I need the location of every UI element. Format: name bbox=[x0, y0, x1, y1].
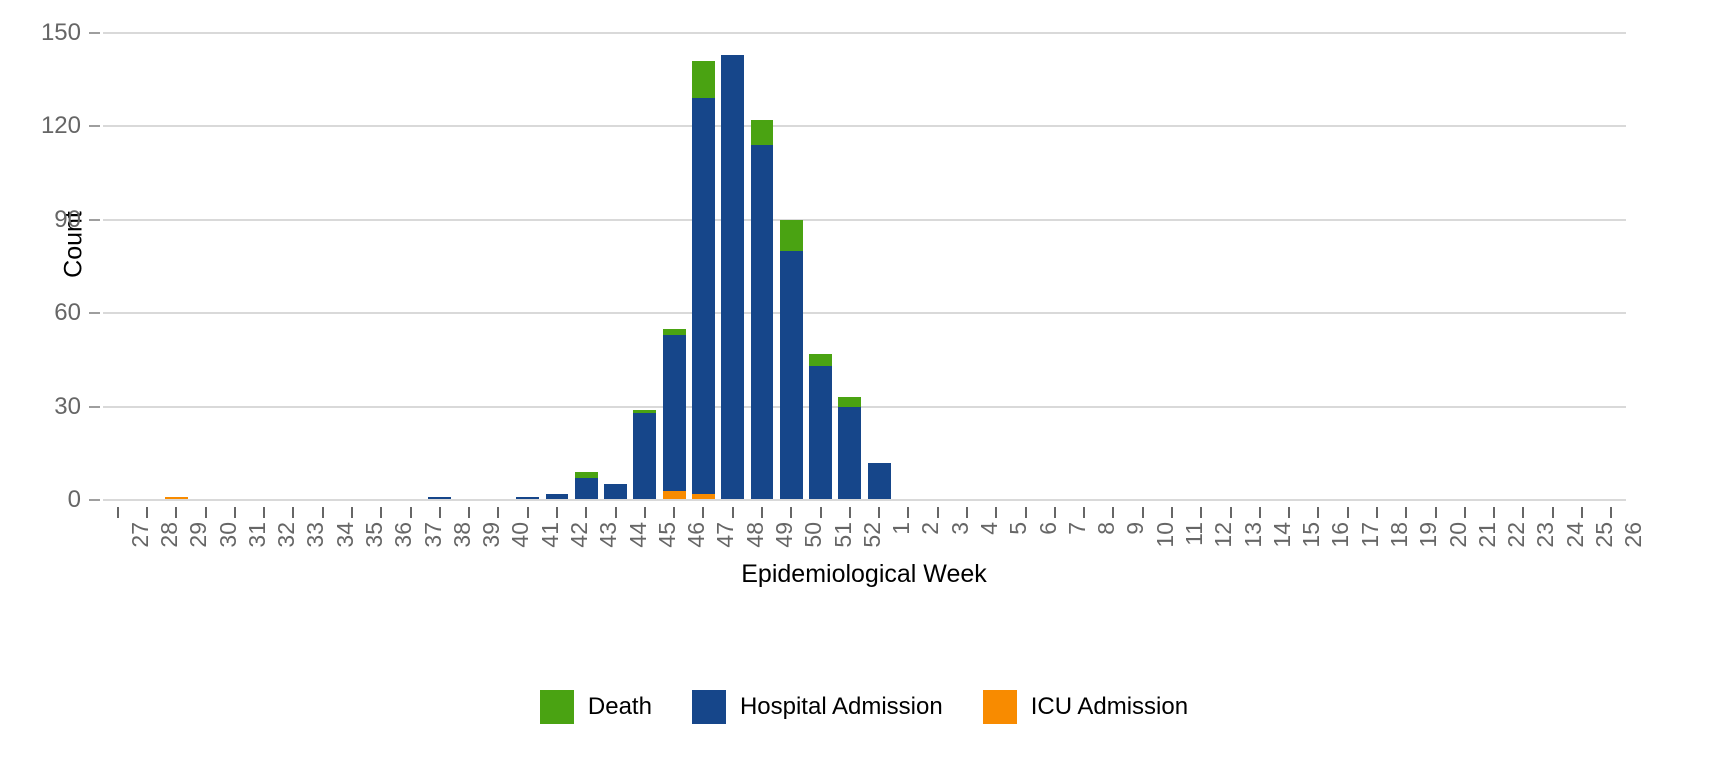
x-tick-mark bbox=[585, 507, 587, 518]
bar-stack[interactable] bbox=[838, 397, 861, 500]
x-tick-label: 42 bbox=[566, 522, 593, 548]
x-tick-mark bbox=[1376, 507, 1378, 518]
bar-segment-death[interactable] bbox=[780, 220, 803, 251]
x-tick-mark bbox=[439, 507, 441, 518]
x-tick-label: 44 bbox=[625, 522, 652, 548]
x-tick-mark bbox=[995, 507, 997, 518]
x-tick-label: 48 bbox=[742, 522, 769, 548]
x-tick-mark bbox=[1581, 507, 1583, 518]
y-tick-label: 90 bbox=[11, 208, 81, 232]
x-tick-label: 18 bbox=[1386, 522, 1413, 548]
x-tick-label: 46 bbox=[683, 522, 710, 548]
x-tick-mark bbox=[1054, 507, 1056, 518]
y-tick-mark bbox=[89, 499, 100, 501]
x-tick-mark bbox=[1317, 507, 1319, 518]
bar-segment-hospital-admission[interactable] bbox=[838, 407, 861, 500]
x-tick-mark bbox=[292, 507, 294, 518]
x-tick-label: 2 bbox=[917, 522, 944, 535]
x-tick-mark bbox=[527, 507, 529, 518]
x-tick-label: 15 bbox=[1298, 522, 1325, 548]
bar-stack[interactable] bbox=[751, 120, 774, 500]
bar-segment-hospital-admission[interactable] bbox=[809, 366, 832, 500]
x-tick-label: 4 bbox=[976, 522, 1003, 535]
y-tick-mark bbox=[89, 125, 100, 127]
x-tick-label: 34 bbox=[332, 522, 359, 548]
bar-segment-death[interactable] bbox=[692, 61, 715, 98]
x-tick-label: 47 bbox=[712, 522, 739, 548]
x-tick-label: 1 bbox=[888, 522, 915, 535]
x-tick-label: 14 bbox=[1269, 522, 1296, 548]
x-tick-label: 9 bbox=[1122, 522, 1149, 535]
x-tick-mark bbox=[146, 507, 148, 518]
x-tick-mark bbox=[380, 507, 382, 518]
x-axis-baseline bbox=[103, 499, 1626, 501]
bar-segment-hospital-admission[interactable] bbox=[692, 98, 715, 493]
bar-stack[interactable] bbox=[692, 61, 715, 500]
x-tick-label: 6 bbox=[1035, 522, 1062, 535]
x-tick-mark bbox=[322, 507, 324, 518]
x-tick-label: 29 bbox=[185, 522, 212, 548]
legend-item[interactable]: Hospital Admission bbox=[692, 690, 943, 724]
x-tick-mark bbox=[1259, 507, 1261, 518]
x-tick-mark bbox=[497, 507, 499, 518]
legend-label: Hospital Admission bbox=[740, 693, 943, 721]
x-tick-label: 5 bbox=[1005, 522, 1032, 535]
y-tick-label: 60 bbox=[11, 301, 81, 325]
bar-segment-hospital-admission[interactable] bbox=[663, 335, 686, 491]
x-tick-label: 30 bbox=[215, 522, 242, 548]
x-tick-label: 20 bbox=[1445, 522, 1472, 548]
legend-item[interactable]: ICU Admission bbox=[983, 690, 1188, 724]
x-tick-mark bbox=[234, 507, 236, 518]
x-tick-mark bbox=[1522, 507, 1524, 518]
x-tick-label: 39 bbox=[478, 522, 505, 548]
legend-swatch bbox=[983, 690, 1017, 724]
x-tick-mark bbox=[117, 507, 119, 518]
x-tick-mark bbox=[175, 507, 177, 518]
bar-stack[interactable] bbox=[604, 484, 627, 500]
legend-swatch bbox=[692, 690, 726, 724]
x-tick-label: 36 bbox=[390, 522, 417, 548]
bar-segment-death[interactable] bbox=[751, 120, 774, 145]
x-tick-label: 3 bbox=[947, 522, 974, 535]
x-tick-mark bbox=[1112, 507, 1114, 518]
x-tick-label: 52 bbox=[859, 522, 886, 548]
x-tick-label: 23 bbox=[1532, 522, 1559, 548]
bar-stack[interactable] bbox=[575, 472, 598, 500]
bar-segment-hospital-admission[interactable] bbox=[604, 484, 627, 500]
x-tick-mark bbox=[673, 507, 675, 518]
y-tick-mark bbox=[89, 32, 100, 34]
x-tick-mark bbox=[1025, 507, 1027, 518]
bar-segment-death[interactable] bbox=[838, 397, 861, 406]
x-tick-mark bbox=[468, 507, 470, 518]
x-tick-mark bbox=[937, 507, 939, 518]
x-tick-mark bbox=[351, 507, 353, 518]
x-tick-mark bbox=[761, 507, 763, 518]
x-tick-label: 16 bbox=[1327, 522, 1354, 548]
x-tick-mark bbox=[644, 507, 646, 518]
x-tick-label: 8 bbox=[1093, 522, 1120, 535]
x-tick-label: 12 bbox=[1210, 522, 1237, 548]
y-tick-mark bbox=[89, 312, 100, 314]
bar-segment-hospital-admission[interactable] bbox=[633, 413, 656, 500]
x-tick-label: 41 bbox=[537, 522, 564, 548]
x-tick-mark bbox=[1230, 507, 1232, 518]
x-tick-mark bbox=[966, 507, 968, 518]
bar-segment-hospital-admission[interactable] bbox=[721, 55, 744, 500]
x-tick-label: 38 bbox=[449, 522, 476, 548]
x-tick-label: 33 bbox=[302, 522, 329, 548]
x-tick-mark bbox=[732, 507, 734, 518]
x-tick-mark bbox=[878, 507, 880, 518]
y-tick-label: 150 bbox=[11, 21, 81, 45]
x-tick-mark bbox=[1493, 507, 1495, 518]
legend-swatch bbox=[540, 690, 574, 724]
x-tick-mark bbox=[1347, 507, 1349, 518]
chart-legend: DeathHospital AdmissionICU Admission bbox=[0, 690, 1728, 724]
x-tick-label: 22 bbox=[1503, 522, 1530, 548]
x-tick-mark bbox=[1464, 507, 1466, 518]
x-tick-label: 32 bbox=[273, 522, 300, 548]
x-tick-label: 40 bbox=[507, 522, 534, 548]
x-tick-mark bbox=[1171, 507, 1173, 518]
x-tick-mark bbox=[1083, 507, 1085, 518]
x-tick-mark bbox=[1288, 507, 1290, 518]
bar-segment-hospital-admission[interactable] bbox=[575, 478, 598, 500]
bar-stack[interactable] bbox=[868, 463, 891, 500]
y-tick-label: 0 bbox=[11, 488, 81, 512]
y-tick-label: 30 bbox=[11, 395, 81, 419]
bar-stack[interactable] bbox=[721, 55, 744, 500]
legend-label: ICU Admission bbox=[1031, 693, 1188, 721]
x-tick-label: 28 bbox=[156, 522, 183, 548]
x-tick-label: 17 bbox=[1357, 522, 1384, 548]
x-tick-label: 31 bbox=[244, 522, 271, 548]
x-tick-label: 7 bbox=[1064, 522, 1091, 535]
bar-segment-hospital-admission[interactable] bbox=[751, 145, 774, 500]
x-tick-label: 10 bbox=[1152, 522, 1179, 548]
x-tick-label: 25 bbox=[1591, 522, 1618, 548]
x-tick-label: 43 bbox=[595, 522, 622, 548]
x-tick-mark bbox=[1200, 507, 1202, 518]
y-tick-mark bbox=[89, 219, 100, 221]
x-tick-label: 45 bbox=[654, 522, 681, 548]
bar-stack[interactable] bbox=[663, 329, 686, 500]
bar-segment-death[interactable] bbox=[809, 354, 832, 366]
x-tick-label: 11 bbox=[1181, 522, 1208, 546]
x-tick-label: 49 bbox=[771, 522, 798, 548]
y-axis-title: Count bbox=[60, 175, 89, 315]
epidemiological-week-bar-chart: Count 0306090120150 27282930313233343536… bbox=[0, 0, 1728, 768]
x-tick-label: 27 bbox=[127, 522, 154, 548]
x-tick-label: 26 bbox=[1620, 522, 1647, 548]
x-tick-label: 50 bbox=[800, 522, 827, 548]
plot-area bbox=[103, 33, 1626, 500]
x-tick-mark bbox=[790, 507, 792, 518]
x-tick-mark bbox=[820, 507, 822, 518]
x-tick-mark bbox=[849, 507, 851, 518]
x-tick-label: 24 bbox=[1562, 522, 1589, 548]
x-tick-mark bbox=[556, 507, 558, 518]
legend-item[interactable]: Death bbox=[540, 690, 652, 724]
x-axis-title: Epidemiological Week bbox=[0, 560, 1728, 589]
bar-stack[interactable] bbox=[780, 220, 803, 500]
x-tick-mark bbox=[907, 507, 909, 518]
x-tick-mark bbox=[1142, 507, 1144, 518]
x-tick-label: 37 bbox=[420, 522, 447, 548]
x-tick-label: 13 bbox=[1240, 522, 1267, 548]
x-tick-mark bbox=[615, 507, 617, 518]
x-tick-label: 35 bbox=[361, 522, 388, 548]
x-tick-mark bbox=[1552, 507, 1554, 518]
bar-segment-hospital-admission[interactable] bbox=[780, 251, 803, 500]
x-tick-label: 21 bbox=[1474, 522, 1501, 548]
x-tick-mark bbox=[205, 507, 207, 518]
y-tick-mark bbox=[89, 406, 100, 408]
bar-stack[interactable] bbox=[809, 354, 832, 500]
x-tick-mark bbox=[263, 507, 265, 518]
x-tick-label: 51 bbox=[830, 522, 857, 548]
y-tick-label: 120 bbox=[11, 114, 81, 138]
x-tick-mark bbox=[702, 507, 704, 518]
x-tick-label: 19 bbox=[1415, 522, 1442, 548]
x-tick-mark bbox=[410, 507, 412, 518]
x-tick-mark bbox=[1435, 507, 1437, 518]
legend-label: Death bbox=[588, 693, 652, 721]
bar-stack[interactable] bbox=[633, 410, 656, 500]
x-tick-mark bbox=[1405, 507, 1407, 518]
bar-segment-hospital-admission[interactable] bbox=[868, 463, 891, 500]
x-tick-mark bbox=[1610, 507, 1612, 518]
